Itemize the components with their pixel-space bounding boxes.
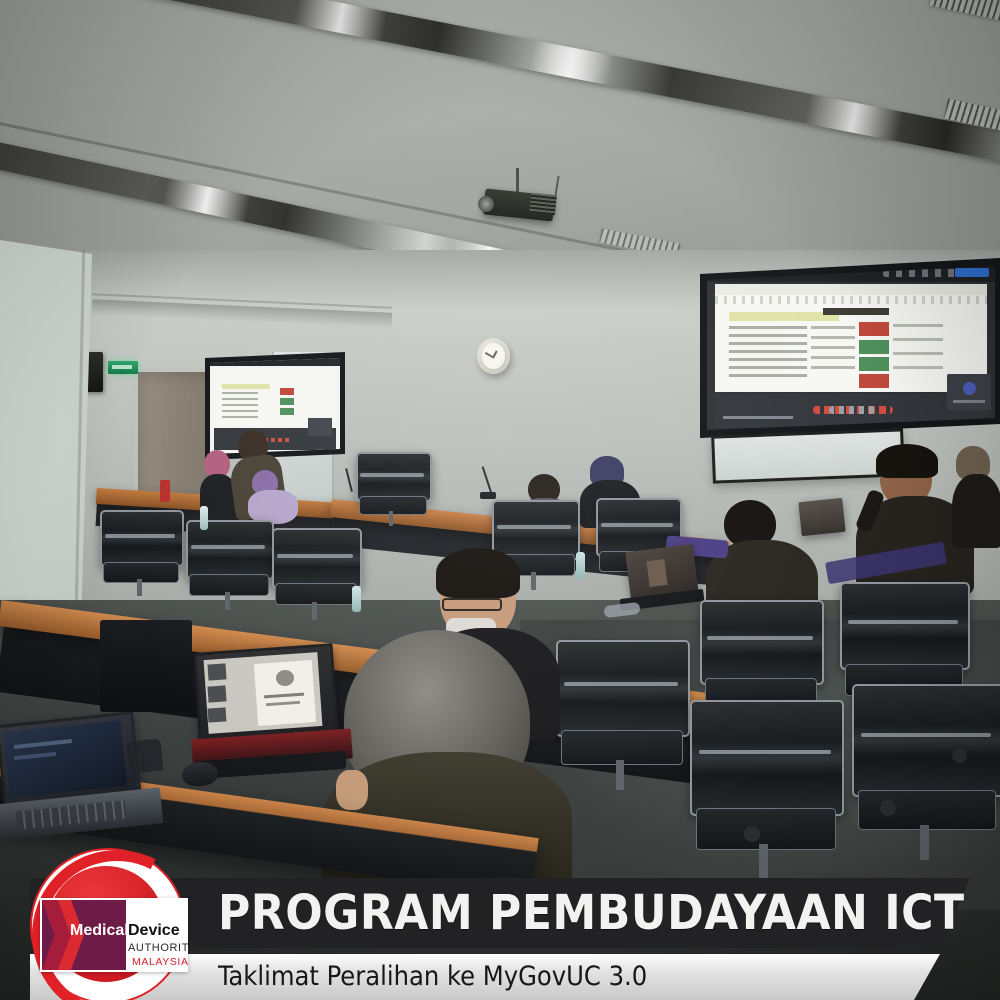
glasses-icon — [442, 598, 502, 611]
microphone-base — [480, 492, 496, 499]
avatar — [963, 382, 976, 395]
status-cell-green — [280, 408, 294, 415]
browser-toolbar — [715, 284, 987, 295]
projector-mount — [516, 168, 519, 194]
status-cell-red — [280, 388, 294, 395]
water-bottle — [200, 506, 208, 530]
person-seated — [952, 446, 1000, 542]
banner: PROGRAM PEMBUDAYAAN ICT Taklimat Peralih… — [0, 862, 1000, 1000]
banner-subtitle: Taklimat Peralihan ke MyGovUC 3.0 — [218, 958, 918, 996]
status-cell-green — [280, 398, 294, 405]
highlighted-header — [222, 384, 270, 389]
logo-text-country: MALAYSIA — [132, 956, 189, 968]
logo-text-medical: Medical — [70, 922, 129, 940]
dark-header-bar — [823, 308, 889, 315]
laptop-content — [646, 559, 667, 587]
water-bottle — [352, 586, 361, 612]
participant-name — [953, 400, 985, 403]
person-seated — [248, 470, 296, 518]
participant-tile — [308, 418, 332, 436]
status-cell-red — [859, 374, 889, 388]
projector-vents — [529, 193, 557, 216]
meeting-footer-text — [723, 416, 793, 419]
status-cell-red — [859, 322, 889, 336]
browser-toolbar-icons — [715, 296, 987, 304]
status-cell-green — [859, 357, 889, 371]
water-bottle — [576, 552, 585, 580]
office-chair[interactable] — [556, 640, 686, 790]
caster — [744, 826, 760, 842]
banner-title: PROGRAM PEMBUDAYAAN ICT — [218, 884, 973, 942]
photo-screenshot: PROGRAM PEMBUDAYAAN ICT Taklimat Peralih… — [0, 0, 1000, 1000]
caster — [880, 800, 896, 816]
office-chair[interactable] — [690, 700, 840, 880]
ear — [336, 770, 368, 810]
office-chair[interactable] — [186, 520, 270, 610]
office-chair[interactable] — [272, 528, 358, 620]
right-projection-screen — [707, 266, 995, 430]
status-cell-green — [859, 340, 889, 354]
air-vent-icon — [929, 0, 1000, 30]
office-chair[interactable] — [356, 452, 428, 526]
office-chair[interactable] — [852, 684, 1000, 860]
meeting-control-buttons[interactable] — [829, 406, 875, 414]
equipment — [100, 620, 192, 712]
cup — [160, 480, 170, 502]
laptop-screen — [798, 498, 845, 536]
caster — [952, 748, 967, 763]
device — [126, 738, 163, 773]
primary-action-button[interactable] — [955, 268, 989, 277]
office-chair[interactable] — [100, 510, 180, 596]
organization-logo: Medical Device AUTHORITY MALAYSIA — [14, 846, 200, 1000]
logo-text-authority: AUTHORITY — [128, 942, 197, 954]
exit-sign — [108, 361, 138, 374]
ceiling-band — [117, 0, 1000, 196]
logo-text-device: Device — [128, 922, 180, 940]
